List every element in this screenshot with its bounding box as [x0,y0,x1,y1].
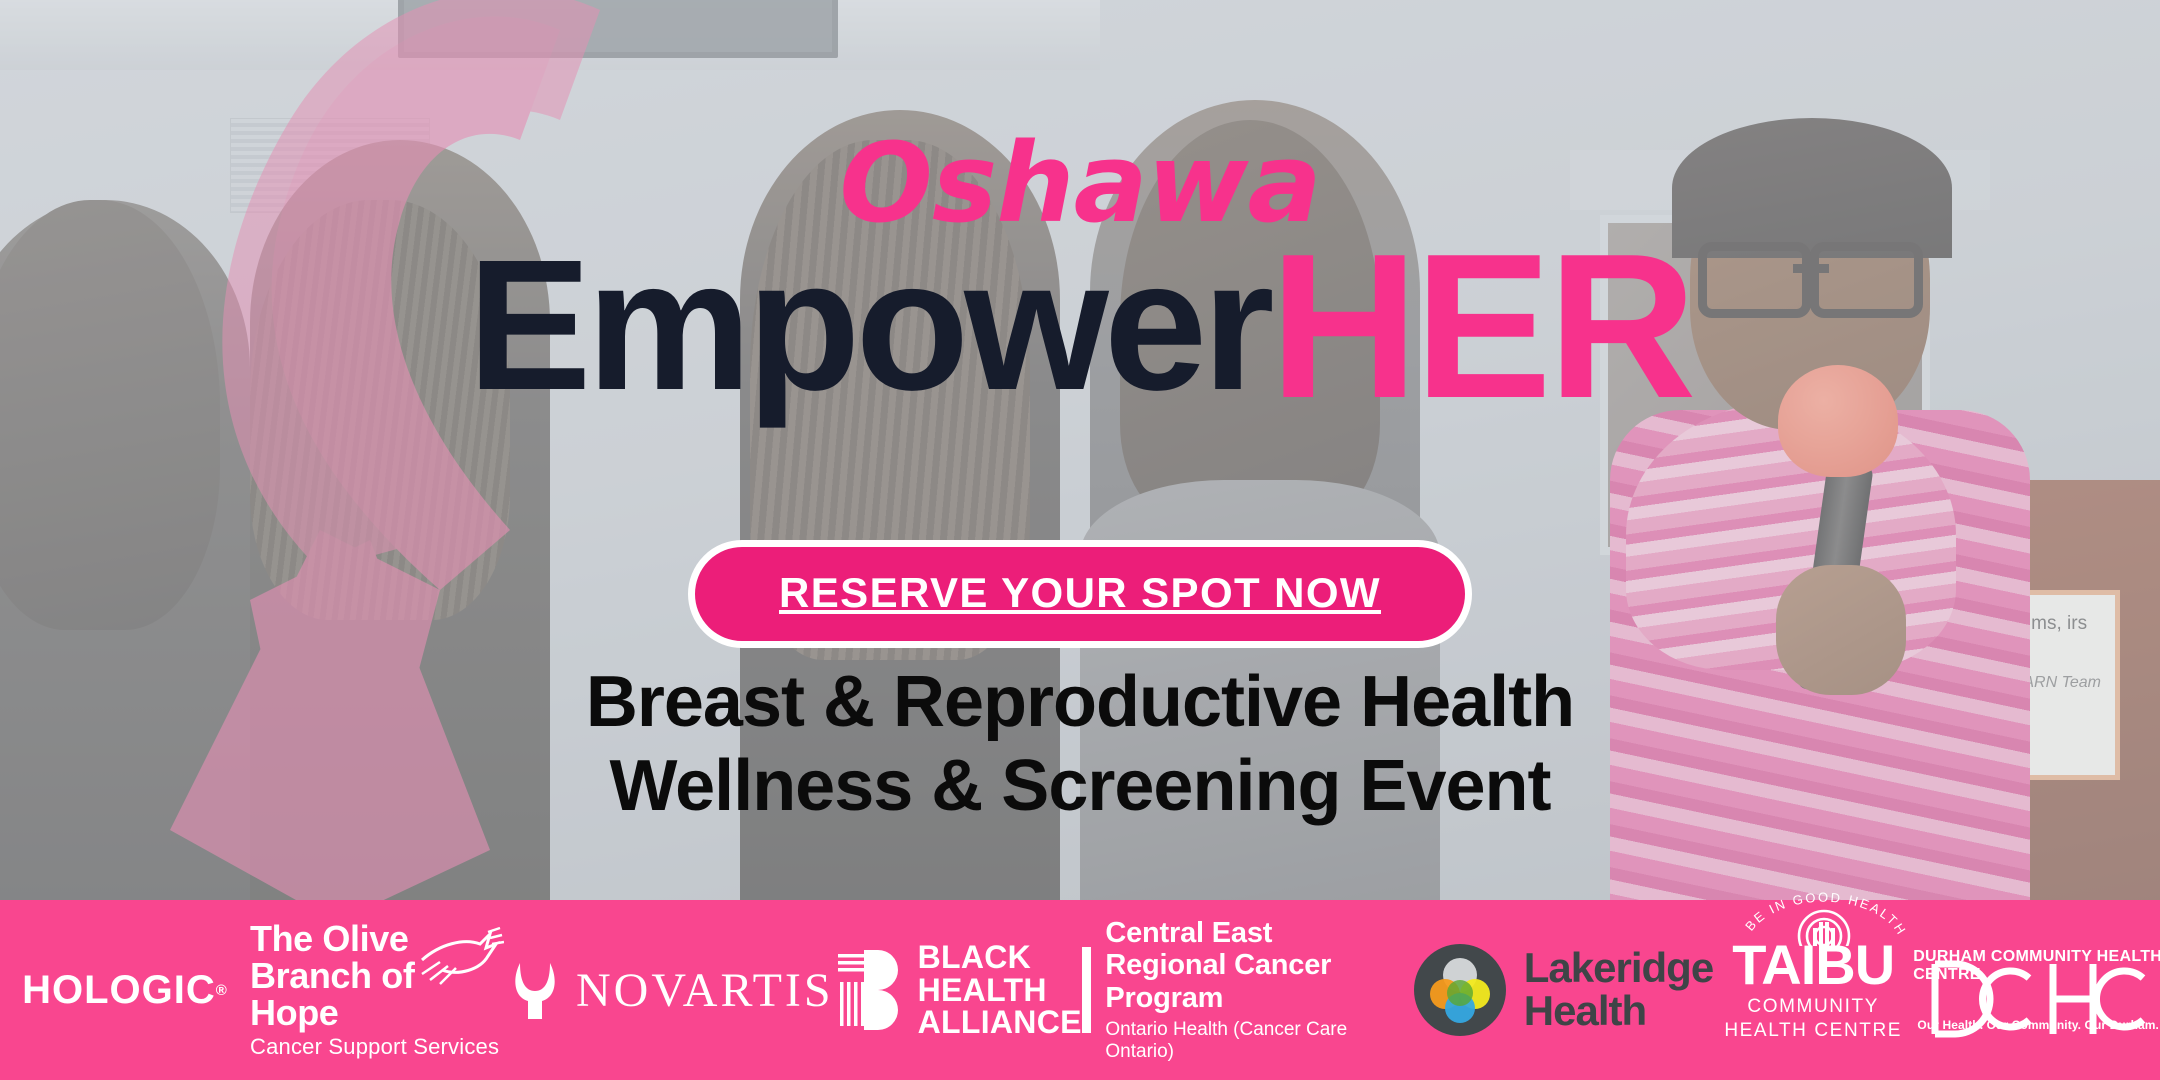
event-promo-banner: ask that you ove podiums, irs at the fro… [0,0,2160,1080]
title-part-empower: Empower [467,222,1269,429]
cerc-text: Central East Regional Cancer Program Ont… [1105,917,1411,1063]
novartis-wordmark: NOVARTIS [576,963,834,1018]
bha-line-3: ALLIANCE [918,1006,1082,1039]
taibu-line-1: COMMUNITY [1747,995,1879,1018]
taibu-line-2: HEALTH CENTRE [1724,1019,1902,1042]
novartis-flame-icon [510,957,560,1023]
hero-content: Oshawa EmpowerHER RESERVE YOUR SPOT NOW … [0,0,2160,900]
title-part-her: HER [1270,211,1693,441]
subtitle-line-1: Breast & Reproductive Health [0,660,2160,744]
reserve-your-spot-button[interactable]: RESERVE YOUR SPOT NOW [688,540,1472,648]
sponsor-logo-novartis[interactable]: NOVARTIS [510,957,834,1023]
cerc-line-1: Central East [1105,917,1411,949]
lakeridge-line-1: Lakeridge [1524,947,1713,990]
sponsor-logo-central-east-regional-cancer-program[interactable]: Central East Regional Cancer Program Ont… [1082,917,1412,1063]
registered-mark-icon: ® [216,982,228,999]
taibu-hands-icon: BE IN GOOD HEALTH [1739,892,1909,946]
sponsor-logo-taibu[interactable]: BE IN GOOD HEALTH TAIBU COMMUNITY HEALTH… [1713,938,1913,1042]
cerc-line-2: Regional Cancer Program [1105,949,1411,1014]
cta-container: RESERVE YOUR SPOT NOW [0,540,2160,648]
subtitle-line-2: Wellness & Screening Event [0,744,2160,828]
sponsor-logo-olive-branch-of-hope[interactable]: The Olive Branch of Hope Cancer Support … [250,920,510,1060]
hologic-wordmark: HOLOGIC [22,968,216,1013]
lakeridge-line-2: Health [1524,990,1713,1033]
cerc-line-3: Ontario Health (Cancer Care Ontario) [1105,1019,1411,1063]
event-subtitle: Breast & Reproductive Health Wellness & … [0,660,2160,828]
bha-line-1: BLACK [918,941,1082,974]
dchc-line-2: Our Health. Our Community. Our Durham. [1917,1018,2159,1032]
sponsor-logo-black-health-alliance[interactable]: BLACK HEALTH ALLIANCE [834,941,1082,1039]
lakeridge-circles-icon [1412,942,1508,1038]
cerc-divider-bar [1082,947,1092,1033]
olive-tagline: Cancer Support Services [250,1034,510,1060]
taibu-stack: BE IN GOOD HEALTH TAIBU COMMUNITY HEALTH… [1724,938,1902,1042]
bha-text: BLACK HEALTH ALLIANCE [918,941,1082,1039]
bha-line-2: HEALTH [918,974,1082,1007]
sponsor-logo-lakeridge-health[interactable]: Lakeridge Health [1412,942,1713,1038]
sponsor-logo-dchc[interactable]: DURHAM COMMUNITY HEALTH CENTRE Our Healt… [1913,948,2160,1032]
dove-icon [418,926,504,990]
dchc-text: DURHAM COMMUNITY HEALTH CENTRE Our Healt… [1913,948,2160,1032]
sponsor-logo-hologic[interactable]: HOLOGIC® [0,968,250,1013]
bha-b-icon [834,948,906,1032]
event-title: EmpowerHER [0,215,2160,421]
sponsor-bar: HOLOGIC® The Olive Branch of Hope Cancer… [0,900,2160,1080]
dchc-line-1: DURHAM COMMUNITY HEALTH CENTRE [1913,948,2160,984]
lakeridge-text: Lakeridge Health [1524,947,1713,1033]
